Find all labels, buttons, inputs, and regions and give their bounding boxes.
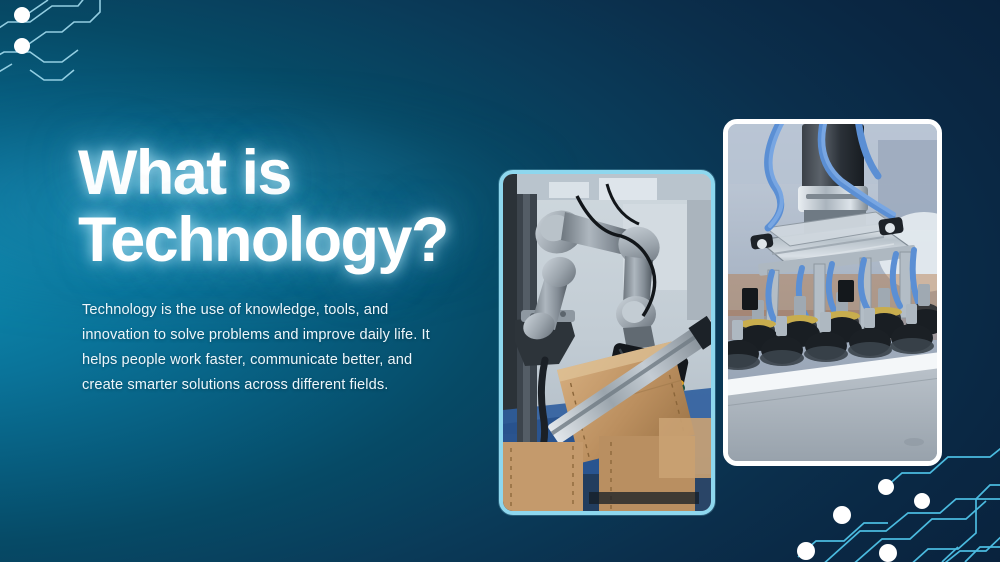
page-title: What is Technology? [78, 140, 538, 274]
vacuum-gripper-illustration [728, 124, 937, 461]
top-left-circuit-decoration [0, 0, 190, 120]
vacuum-gripper-image-canvas [728, 124, 937, 461]
slide-canvas: What is Technology? Technology is the us… [0, 0, 1000, 562]
robot-arm-illustration [503, 174, 711, 511]
vacuum-gripper-photo [723, 119, 942, 466]
body-paragraph: Technology is the use of knowledge, tool… [82, 298, 432, 398]
robot-arm-palletizing-photo [499, 170, 715, 515]
robot-arm-image-canvas [503, 174, 711, 511]
